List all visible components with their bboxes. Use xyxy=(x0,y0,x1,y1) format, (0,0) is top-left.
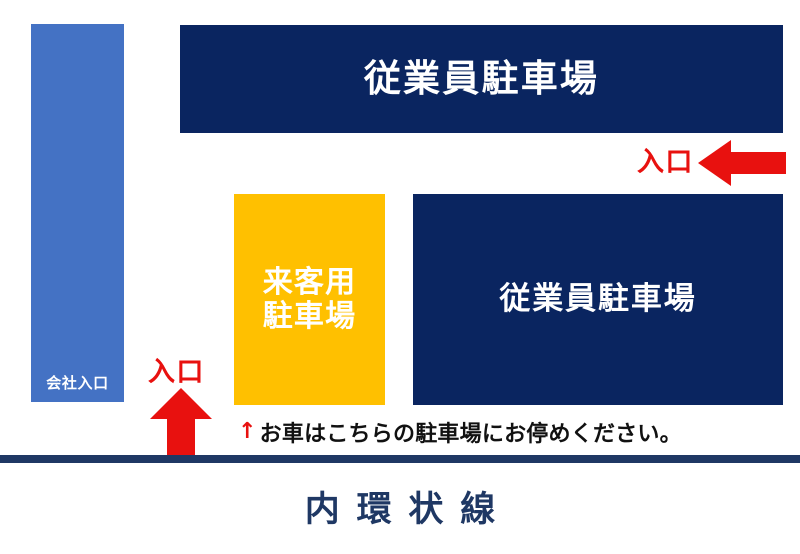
parking-instruction: ↑ お車はこちらの駐車場にお停めください。 xyxy=(238,415,758,449)
entrance-label-bottom: 入口 xyxy=(148,350,205,389)
visitor-parking-lot: 来客用 駐車場 xyxy=(234,194,385,405)
entrance-label-right: 入口 xyxy=(637,140,694,179)
arrow-up-icon xyxy=(150,388,212,462)
instruction-up-caret-icon: ↑ xyxy=(238,421,257,443)
road-name-label: 内環状線 xyxy=(0,478,800,534)
parking-map-canvas: 会社入口 従業員駐車場 従業員駐車場 来客用 駐車場 入口 入口 ↑ お車はこち… xyxy=(0,0,800,554)
visitor-parking-lot-label-line2: 駐車場 xyxy=(263,300,357,334)
employee-parking-lot-right-label: 従業員駐車場 xyxy=(499,282,696,317)
road-line xyxy=(0,455,800,463)
instruction-text: お車はこちらの駐車場にお停めください。 xyxy=(260,416,682,448)
company-entrance-bar: 会社入口 xyxy=(31,24,124,402)
arrow-left-icon xyxy=(698,140,786,186)
visitor-parking-lot-label-line1: 来客用 xyxy=(263,266,357,300)
company-entrance-label: 会社入口 xyxy=(46,375,108,392)
employee-parking-lot-top-label: 従業員駐車場 xyxy=(364,58,599,99)
employee-parking-lot-top: 従業員駐車場 xyxy=(180,25,783,133)
employee-parking-lot-right: 従業員駐車場 xyxy=(413,194,783,405)
